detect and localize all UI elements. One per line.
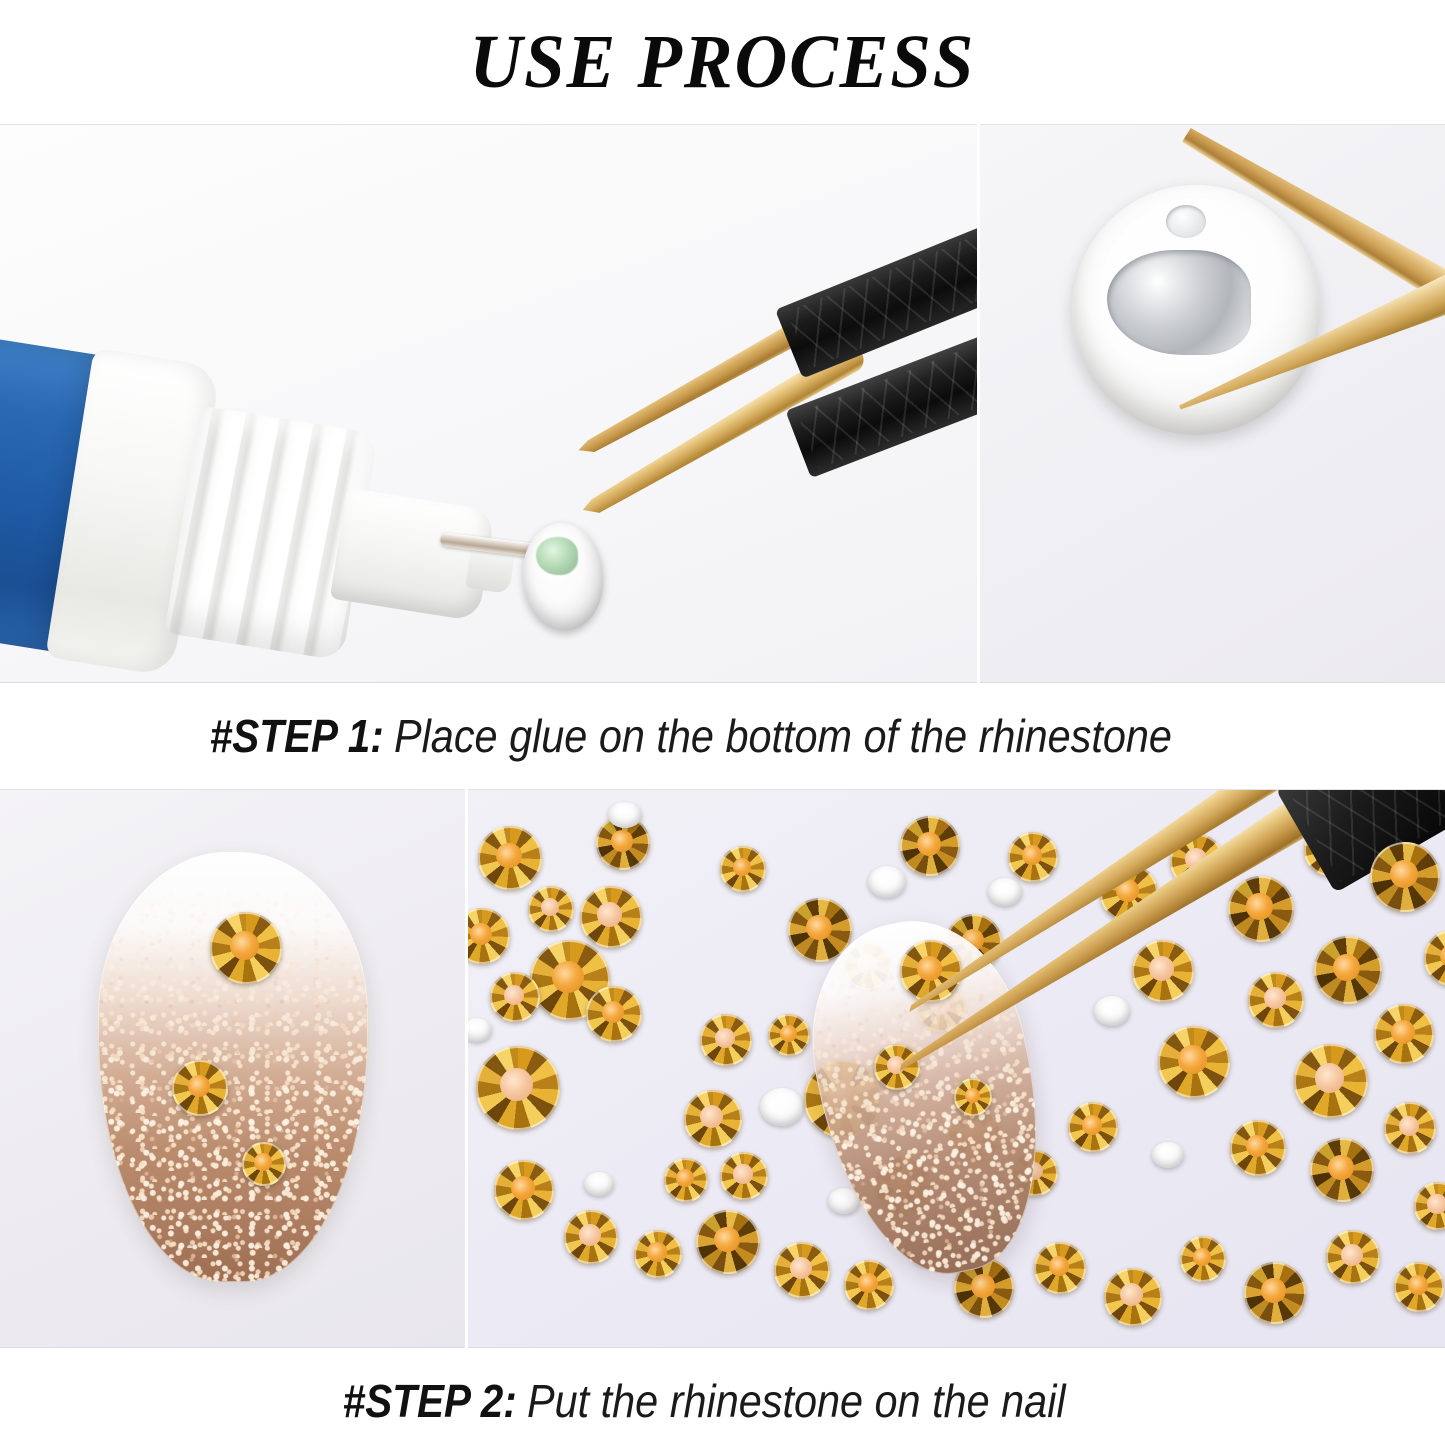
rhinestone xyxy=(564,1210,618,1264)
step-1-photo-row xyxy=(0,124,1445,683)
rhinestone xyxy=(528,886,574,932)
rhinestone xyxy=(720,1152,768,1200)
tweezer-arm-lower xyxy=(1172,260,1445,428)
rhinestone xyxy=(700,1014,752,1066)
rhinestone xyxy=(478,826,542,890)
rhinestone-assortment-photo xyxy=(468,789,1445,1348)
rhinestone xyxy=(1180,1236,1226,1282)
glue-application-photo xyxy=(0,124,977,683)
step-1-label: #STEP 1: xyxy=(210,709,384,763)
header: USE PROCESS xyxy=(0,0,1445,124)
tweezer-arm-upper xyxy=(1182,124,1445,317)
rhinestone xyxy=(720,846,766,892)
step-2-caption: #STEP 2: Put the rhinestone on the nail xyxy=(0,1348,1445,1454)
clear-rhinestone xyxy=(608,802,642,828)
step-1-text: Place glue on the bottom of the rhinesto… xyxy=(394,709,1172,763)
rhinestone xyxy=(774,1242,830,1298)
nail-rhinestone xyxy=(172,1060,228,1116)
glue-bottle-image xyxy=(0,331,500,683)
step-2-text: Put the rhinestone on the nail xyxy=(527,1374,1066,1428)
rhinestone xyxy=(696,1210,760,1274)
rhinestone xyxy=(490,972,540,1022)
step-2-photo-row xyxy=(0,789,1445,1348)
page-title: USE PROCESS xyxy=(470,24,976,100)
clear-rhinestone xyxy=(760,1088,804,1126)
tweezer-arm-lower xyxy=(886,789,1350,1087)
rhinestone xyxy=(494,1160,554,1220)
rhinestone xyxy=(468,908,510,964)
clear-rhinestone xyxy=(584,1172,614,1196)
tweezers-image xyxy=(560,235,977,655)
rhinestone xyxy=(1370,842,1440,912)
rhinestone xyxy=(684,1090,742,1148)
rhinestone xyxy=(586,986,642,1042)
rhinestone xyxy=(1394,1262,1444,1312)
rhinestone xyxy=(476,1046,560,1130)
rhinestone xyxy=(1104,1268,1162,1326)
rhinestone xyxy=(1244,1262,1306,1324)
tweezers-image xyxy=(888,789,1445,1170)
step-2-label: #STEP 2: xyxy=(343,1374,517,1428)
rhinestone xyxy=(1414,1182,1445,1230)
grip-texture xyxy=(787,207,977,369)
rhinestone xyxy=(580,886,642,948)
rhinestone xyxy=(634,1230,682,1278)
finished-nail-photo xyxy=(0,789,465,1348)
clear-rhinestone xyxy=(468,1018,492,1042)
nail-rhinestone xyxy=(210,912,282,984)
rhinestone xyxy=(1326,1230,1380,1284)
tweezers-image xyxy=(1140,125,1440,545)
rhinestone-backside-closeup-photo xyxy=(980,124,1445,683)
rhinestone xyxy=(664,1158,708,1202)
step-1-caption: #STEP 1: Place glue on the bottom of the… xyxy=(0,683,1445,789)
nail-rhinestone xyxy=(242,1142,286,1186)
